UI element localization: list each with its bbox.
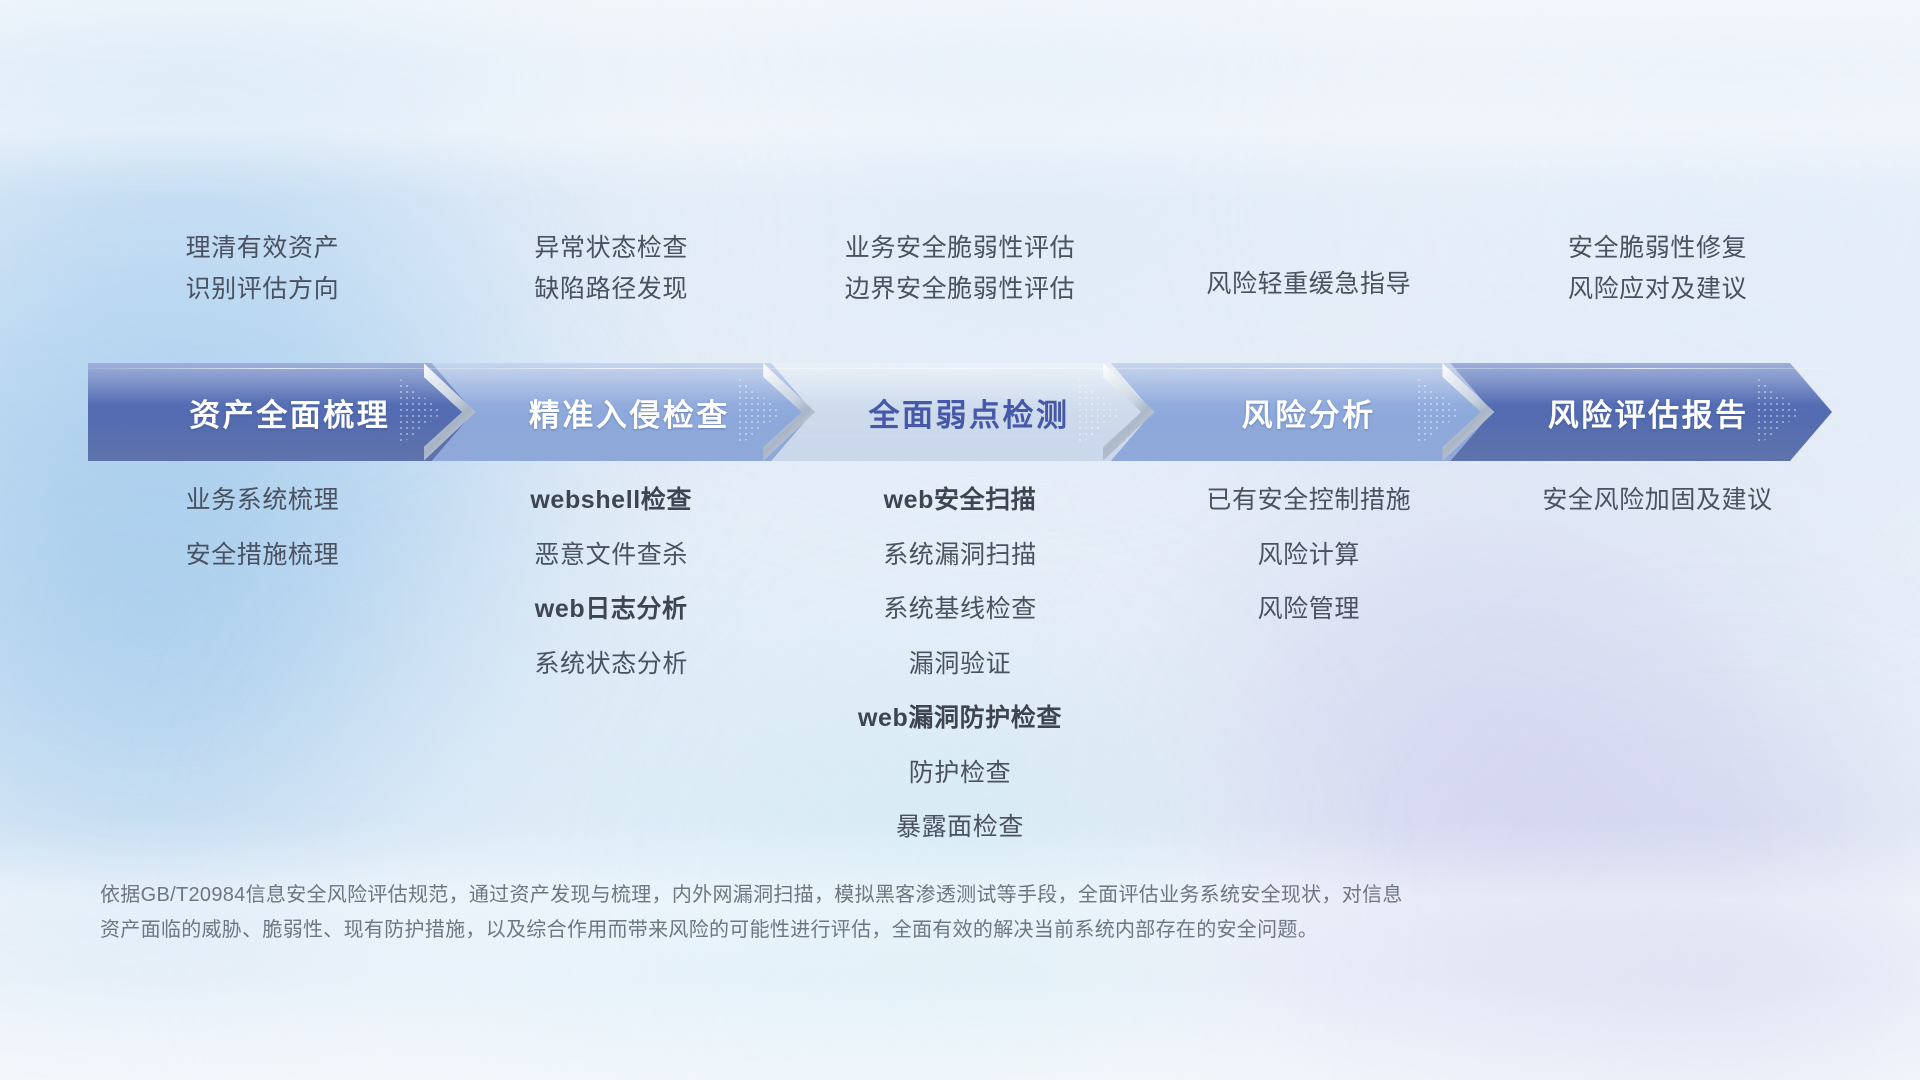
top-column-1: 理清有效资产识别评估方向 — [88, 228, 437, 309]
top-item: 理清有效资产 — [94, 228, 431, 269]
top-item: 安全脆弱性修复 — [1489, 228, 1826, 269]
stage-chevron-5[interactable]: 风险评估报告 — [1446, 363, 1832, 461]
footer-description: 依据GB/T20984信息安全风险评估规范，通过资产发现与梳理，内外网漏洞扫描，… — [100, 878, 1620, 948]
bottom-item: web安全扫描 — [786, 480, 1135, 521]
bottom-item-label: web漏洞防护检查 — [858, 704, 1062, 732]
bottom-column-2: webshell检查恶意文件查杀web日志分析系统状态分析 — [437, 480, 786, 862]
top-column-3: 业务安全脆弱性评估边界安全脆弱性评估 — [786, 228, 1135, 309]
bottom-item: 已有安全控制措施 — [1134, 480, 1483, 521]
top-item: 异常状态检查 — [443, 228, 780, 269]
bottom-item: 漏洞验证 — [786, 644, 1135, 685]
bottom-item: 业务系统梳理 — [88, 480, 437, 521]
bottom-item-label: web日志分析 — [535, 595, 688, 623]
bottom-item: 系统状态分析 — [437, 644, 786, 685]
top-column-2: 异常状态检查缺陷路径发现 — [437, 228, 786, 309]
process-diagram: 理清有效资产识别评估方向异常状态检查缺陷路径发现业务安全脆弱性评估边界安全脆弱性… — [0, 0, 1920, 1080]
chevron-highlight-line — [1446, 368, 1832, 369]
bottom-item: 风险管理 — [1134, 589, 1483, 630]
bottom-item: web日志分析 — [437, 589, 786, 630]
top-item: 风险轻重缓急指导 — [1140, 264, 1477, 305]
bottom-item: 安全风险加固及建议 — [1483, 480, 1832, 521]
chevron-highlight-line — [1107, 368, 1493, 369]
stage-label: 精准入侵检查 — [428, 390, 814, 435]
bottom-item-label: web安全扫描 — [884, 486, 1037, 514]
stage-chevron-2[interactable]: 精准入侵检查 — [428, 363, 814, 461]
top-item: 识别评估方向 — [94, 269, 431, 310]
stage-label: 风险分析 — [1107, 390, 1493, 435]
footer-line-2: 资产面临的威胁、脆弱性、现有防护措施，以及综合作用而带来风险的可能性进行评估，全… — [100, 913, 1620, 948]
top-item: 缺陷路径发现 — [443, 269, 780, 310]
top-column-5: 安全脆弱性修复风险应对及建议 — [1483, 228, 1832, 309]
bottom-item: webshell检查 — [437, 480, 786, 521]
top-column-4: 风险轻重缓急指导 — [1134, 228, 1483, 309]
bottom-item: 系统基线检查 — [786, 589, 1135, 630]
bottom-column-1: 业务系统梳理安全措施梳理 — [88, 480, 437, 862]
bottom-items-row: 业务系统梳理安全措施梳理webshell检查恶意文件查杀web日志分析系统状态分… — [88, 480, 1832, 862]
top-item: 业务安全脆弱性评估 — [792, 228, 1129, 269]
chevron-highlight-line — [88, 368, 474, 369]
chevron-highlight-line — [767, 368, 1153, 369]
stage-label: 风险评估报告 — [1446, 390, 1832, 435]
bottom-column-4: 已有安全控制措施风险计算风险管理 — [1134, 480, 1483, 862]
bottom-column-5: 安全风险加固及建议 — [1483, 480, 1832, 862]
bottom-item-label: webshell检查 — [530, 486, 692, 514]
bottom-item: 系统漏洞扫描 — [786, 535, 1135, 576]
stage-chevron-3[interactable]: 全面弱点检测 — [767, 363, 1153, 461]
bottom-item: 恶意文件查杀 — [437, 535, 786, 576]
stage-label: 全面弱点检测 — [767, 390, 1153, 435]
stage-chevron-4[interactable]: 风险分析 — [1107, 363, 1493, 461]
bottom-item: 防护检查 — [786, 753, 1135, 794]
bottom-item: web漏洞防护检查 — [786, 698, 1135, 739]
stage-label: 资产全面梳理 — [88, 390, 474, 435]
chevron-stage-band: 资产全面梳理精准入侵检查全面弱点检测风险分析风险评估报告 — [88, 363, 1832, 461]
bottom-column-3: web安全扫描系统漏洞扫描系统基线检查漏洞验证web漏洞防护检查防护检查暴露面检… — [786, 480, 1135, 862]
top-item: 风险应对及建议 — [1489, 269, 1826, 310]
bottom-item: 安全措施梳理 — [88, 535, 437, 576]
footer-line-1: 依据GB/T20984信息安全风险评估规范，通过资产发现与梳理，内外网漏洞扫描，… — [100, 878, 1620, 913]
bottom-item: 暴露面检查 — [786, 807, 1135, 848]
top-item: 边界安全脆弱性评估 — [792, 269, 1129, 310]
stage-chevron-1[interactable]: 资产全面梳理 — [88, 363, 474, 461]
chevron-highlight-line — [428, 368, 814, 369]
top-items-row: 理清有效资产识别评估方向异常状态检查缺陷路径发现业务安全脆弱性评估边界安全脆弱性… — [88, 228, 1832, 309]
bottom-item: 风险计算 — [1134, 535, 1483, 576]
